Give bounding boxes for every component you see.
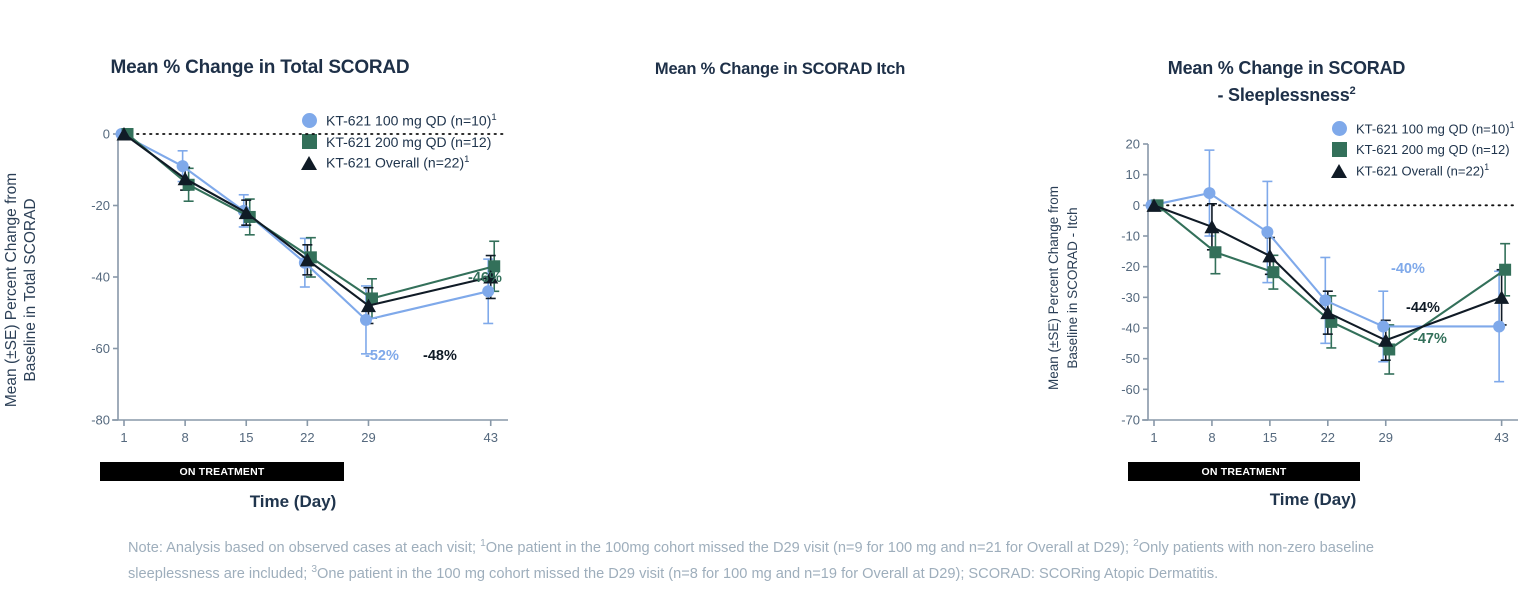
on-treatment-bar: ON TREATMENT	[100, 462, 344, 481]
x-tick-label: 29	[361, 430, 375, 445]
panel-scorad-sleeplessness: Mean % Change in SCORAD- Sleeplessness2 …	[1040, 0, 1533, 520]
circle-marker-icon	[300, 113, 318, 128]
y-tick-label: 0	[103, 127, 110, 142]
x-axis-title: Time (Day)	[78, 492, 508, 512]
chart-title: Mean % Change in Total SCORAD	[0, 56, 520, 79]
chart-svg: 0-20-40-60-801815222943-46%-52%-48%	[78, 130, 508, 450]
x-tick-label: 15	[239, 430, 253, 445]
y-tick-label: -60	[91, 341, 110, 356]
x-tick-label: 1	[120, 430, 127, 445]
chart-figure: Mean % Change in Total SCORAD Mean (±SE)…	[0, 0, 1533, 607]
x-tick-label: 8	[182, 430, 189, 445]
chart-title: Mean % Change in SCORAD Itch	[520, 58, 1040, 81]
x-tick-label: 43	[483, 430, 497, 445]
chart-title: Mean % Change in SCORAD- Sleeplessness2	[1040, 57, 1533, 107]
y-tick-label: -40	[91, 270, 110, 285]
series-square	[122, 128, 501, 304]
data-point-label: -48%	[423, 348, 457, 364]
plot-area: 0-20-40-60-801815222943-46%-52%-48%	[78, 130, 508, 450]
series-circle	[116, 128, 495, 326]
panel-total-scorad: Mean % Change in Total SCORAD Mean (±SE)…	[0, 0, 520, 520]
legend-label: KT-621 100 mg QD (n=10)1	[326, 112, 497, 129]
x-tick-label: 22	[300, 430, 314, 445]
y-axis-title: Mean (±SE) Percent Change from Baseline …	[2, 140, 40, 440]
panel-scorad-itch: Mean % Change in SCORAD Itch Mean (±SE) …	[520, 0, 1040, 520]
error-bars	[178, 151, 494, 354]
data-point-label: -52%	[365, 348, 399, 364]
series-triangle	[117, 127, 499, 312]
y-tick-label: -20	[91, 198, 110, 213]
legend-item: KT-621 100 mg QD (n=10)1	[300, 110, 497, 131]
footnote: Note: Analysis based on observed cases a…	[128, 533, 1418, 585]
y-tick-label: -80	[91, 413, 110, 428]
data-point-label: -46%	[468, 270, 502, 286]
